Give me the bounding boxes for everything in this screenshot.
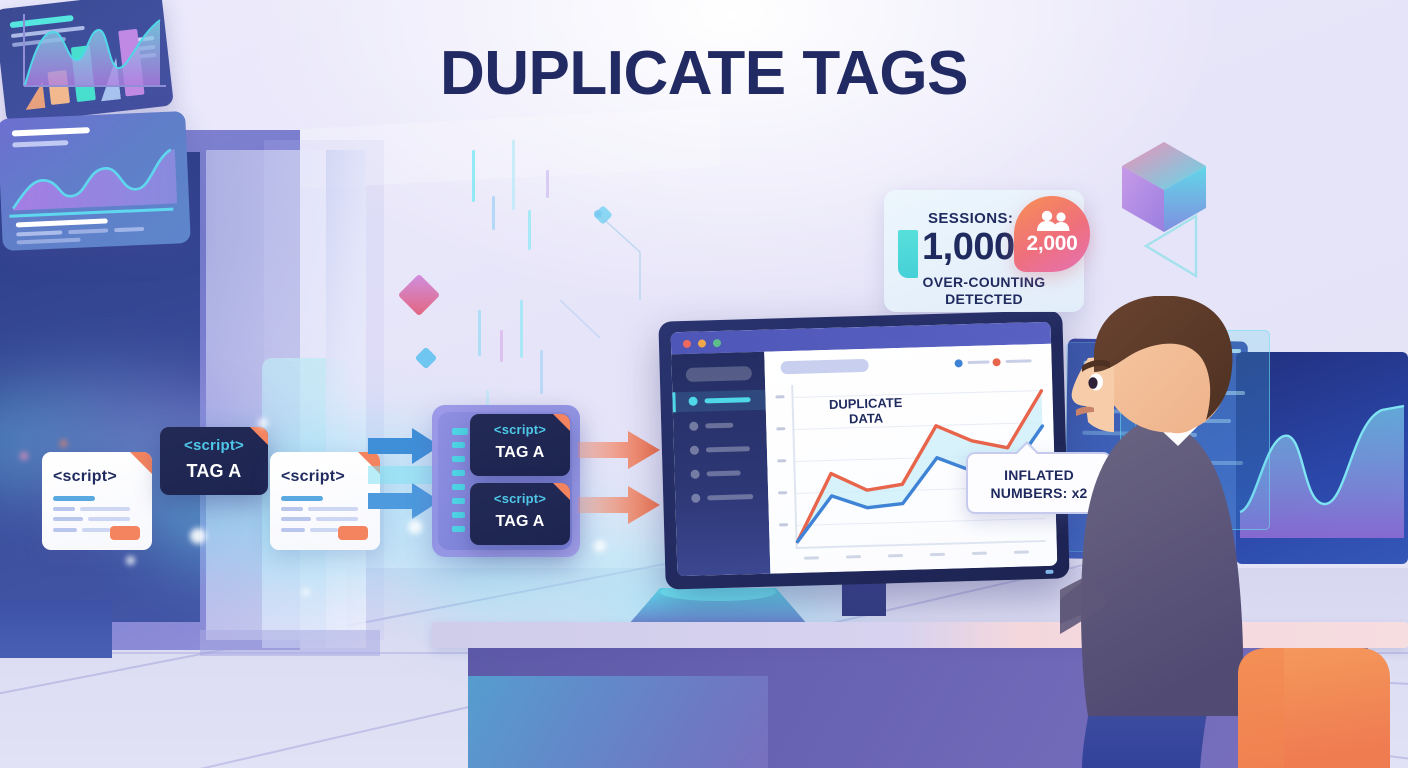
sparkle: [20, 452, 28, 460]
floating-diamond: [415, 347, 438, 370]
sidebar-item-dot-5: [691, 494, 700, 503]
area-sparkline: [7, 145, 182, 214]
sidebar-item-4[interactable]: [707, 470, 741, 476]
page-fold-icon: [130, 452, 152, 474]
desk-shadow: [468, 676, 768, 768]
script-tag-label: <script>: [281, 468, 345, 486]
floating-diamond: [593, 205, 613, 225]
code-stream: [540, 350, 543, 394]
wall-base: [0, 600, 112, 658]
sidebar-item-dot-4: [690, 470, 699, 479]
server-tag-card-1[interactable]: <script> TAG A: [470, 414, 570, 476]
sparkle: [190, 528, 206, 544]
arrow-right-orange-1: [578, 430, 662, 470]
arrow-right-orange-2: [578, 485, 662, 525]
accent-bar: [898, 230, 918, 278]
script-card-2[interactable]: <script>: [270, 452, 380, 550]
script-tag-label: <script>: [470, 422, 570, 437]
server-led: [452, 456, 465, 462]
analyst-figure: [1060, 296, 1408, 768]
chart-annotation-duplicate-data: DUPLICATEDATA: [806, 395, 927, 427]
sidebar-item-3[interactable]: [706, 446, 750, 452]
monitor-screen: DUPLICATEDATA: [671, 322, 1058, 577]
legend-dot-actual: [955, 359, 963, 367]
script-tag-label: <script>: [470, 491, 570, 506]
illustration-canvas: <script> <script> TAG A <script>: [0, 0, 1408, 768]
sidebar-item-dot-2: [689, 422, 698, 431]
code-stream: [492, 196, 495, 230]
arrow-right-blue-2: [368, 483, 442, 519]
code-stream: [472, 150, 475, 202]
sessions-value: 1,000: [922, 226, 1015, 269]
server-led: [452, 428, 468, 435]
search-input[interactable]: [686, 366, 752, 382]
over-counting-text: OVER-COUNTINGDETECTED: [884, 274, 1084, 308]
arrow-right-blue-1: [368, 428, 442, 464]
server-led: [452, 498, 465, 504]
code-stream: [546, 170, 549, 198]
sparkle: [126, 556, 135, 565]
primary-monitor: DUPLICATEDATA: [658, 310, 1069, 589]
area-chart-panel-top: [0, 111, 191, 251]
session-count-badge: 2,000: [1014, 196, 1090, 272]
sparkle: [408, 520, 422, 534]
legend-dot-inflated: [992, 358, 1000, 366]
legend-line-actual: [968, 360, 990, 364]
server-led: [452, 526, 465, 532]
maximize-icon[interactable]: [713, 339, 721, 347]
legend-line-inflated: [1006, 359, 1032, 363]
sidebar-item-dot-3: [690, 446, 699, 455]
tag-name-label: TAG A: [160, 461, 268, 482]
arrow-glow-band: [368, 466, 440, 484]
sidebar-item-5[interactable]: [707, 494, 753, 500]
close-icon[interactable]: [683, 340, 691, 348]
sparkle: [60, 440, 67, 447]
script-card-tag-a-front[interactable]: <script> TAG A: [160, 427, 268, 495]
sparkle: [594, 540, 606, 552]
triangle-outline-icon: [1140, 210, 1202, 282]
sessions-label: SESSIONS:: [928, 210, 1013, 227]
chart-title-placeholder: [780, 359, 868, 374]
people-icon: [1034, 210, 1072, 232]
callout-pointer-inner: [1016, 444, 1038, 455]
script-tag-label: <script>: [160, 437, 268, 454]
server-tag-card-2[interactable]: <script> TAG A: [470, 483, 570, 545]
app-sidebar: [671, 352, 770, 577]
badge-count: 2,000: [1014, 232, 1090, 256]
sparkle: [302, 588, 310, 596]
script-tag-label: <script>: [53, 468, 117, 486]
sparkle: [258, 418, 268, 428]
sidebar-item-2[interactable]: [705, 423, 733, 429]
code-stream: [500, 330, 503, 362]
script-card-1[interactable]: <script>: [42, 452, 152, 550]
tag-name-label: TAG A: [470, 513, 570, 531]
server-led: [452, 442, 465, 448]
code-stream: [478, 310, 481, 356]
server-led: [452, 484, 465, 490]
minimize-icon[interactable]: [698, 339, 706, 347]
code-stream: [512, 140, 515, 210]
server-led: [452, 470, 465, 476]
pillar-base: [200, 630, 380, 656]
page-title: DUPLICATE TAGS: [0, 38, 1408, 109]
code-stream: [520, 300, 523, 358]
tag-name-label: TAG A: [470, 444, 570, 462]
server-led: [452, 512, 465, 518]
monitor-led: [1045, 570, 1053, 574]
floating-diamond: [398, 274, 440, 316]
code-stream: [528, 210, 531, 250]
